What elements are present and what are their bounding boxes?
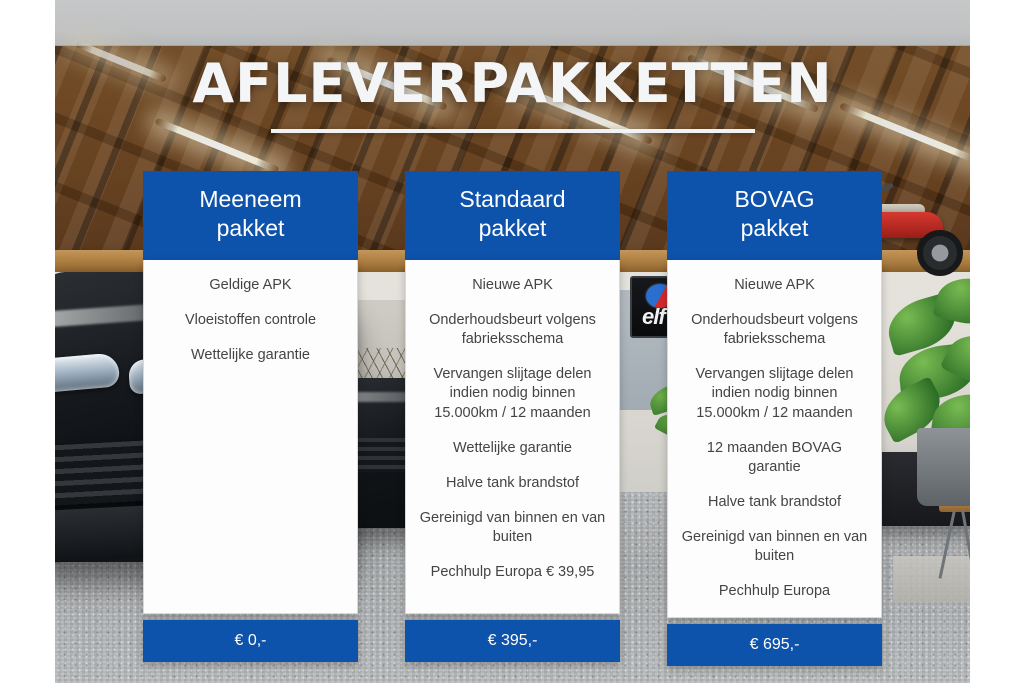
list-item: Halve tank brandstof xyxy=(680,493,869,512)
package-card-list: Meeneem pakket Geldige APK Vloeistoffen … xyxy=(143,171,882,666)
list-item: Onderhoudsbeurt volgens fabrieksschema xyxy=(418,311,607,349)
card-header-meeneem: Meeneem pakket xyxy=(143,171,358,260)
slide-canvas: elf xyxy=(0,0,1024,683)
floor-rug xyxy=(893,556,970,602)
page-title-block: AFLEVERPAKKETTEN xyxy=(55,56,970,133)
card-header-line2: pakket xyxy=(677,214,872,243)
package-card-bovag[interactable]: BOVAG pakket Nieuwe APK Onderhoudsbeurt … xyxy=(667,171,882,666)
package-card-standaard[interactable]: Standaard pakket Nieuwe APK Onderhoudsbe… xyxy=(405,171,620,666)
package-card-meeneem[interactable]: Meeneem pakket Geldige APK Vloeistoffen … xyxy=(143,171,358,666)
list-item: Vervangen slijtage delen indien nodig bi… xyxy=(680,365,869,422)
list-item: Gereinigd van binnen en van buiten xyxy=(680,528,869,566)
page-title: AFLEVERPAKKETTEN xyxy=(55,56,970,113)
list-item: Nieuwe APK xyxy=(680,276,869,295)
list-item: Nieuwe APK xyxy=(418,276,607,295)
list-item: Wettelijke garantie xyxy=(156,346,345,365)
list-item: 12 maanden BOVAG garantie xyxy=(680,439,869,477)
card-header-line2: pakket xyxy=(415,214,610,243)
card-header-line1: Meeneem xyxy=(199,186,301,212)
feature-list: Nieuwe APK Onderhoudsbeurt volgens fabri… xyxy=(680,276,869,602)
wheel-icon xyxy=(917,230,963,276)
title-divider xyxy=(271,129,755,133)
list-item: Vloeistoffen controle xyxy=(156,311,345,330)
price-bovag[interactable]: € 695,- xyxy=(667,624,882,666)
feature-list: Nieuwe APK Onderhoudsbeurt volgens fabri… xyxy=(418,276,607,582)
list-item: Wettelijke garantie xyxy=(418,439,607,458)
card-header-line1: BOVAG xyxy=(734,186,814,212)
card-header-line2: pakket xyxy=(153,214,348,243)
monstera-plant xyxy=(881,278,970,508)
card-body-standaard: Nieuwe APK Onderhoudsbeurt volgens fabri… xyxy=(405,260,620,614)
headlight-icon xyxy=(55,352,120,393)
list-item: Onderhoudsbeurt volgens fabrieksschema xyxy=(680,311,869,349)
ceiling-plaster xyxy=(55,0,970,52)
list-item: Pechhulp Europa xyxy=(680,582,869,601)
price-meeneem[interactable]: € 0,- xyxy=(143,620,358,662)
card-body-meeneem: Geldige APK Vloeistoffen controle Wettel… xyxy=(143,260,358,614)
list-item: Pechhulp Europa € 39,95 xyxy=(418,563,607,582)
list-item: Geldige APK xyxy=(156,276,345,295)
list-item: Halve tank brandstof xyxy=(418,474,607,493)
feature-list: Geldige APK Vloeistoffen controle Wettel… xyxy=(156,276,345,365)
plant-pot xyxy=(917,428,970,506)
card-body-bovag: Nieuwe APK Onderhoudsbeurt volgens fabri… xyxy=(667,260,882,619)
list-item: Vervangen slijtage delen indien nodig bi… xyxy=(418,365,607,422)
card-header-bovag: BOVAG pakket xyxy=(667,171,882,260)
price-standaard[interactable]: € 395,- xyxy=(405,620,620,662)
card-header-standaard: Standaard pakket xyxy=(405,171,620,260)
card-header-line1: Standaard xyxy=(459,186,565,212)
list-item: Gereinigd van binnen en van buiten xyxy=(418,509,607,547)
